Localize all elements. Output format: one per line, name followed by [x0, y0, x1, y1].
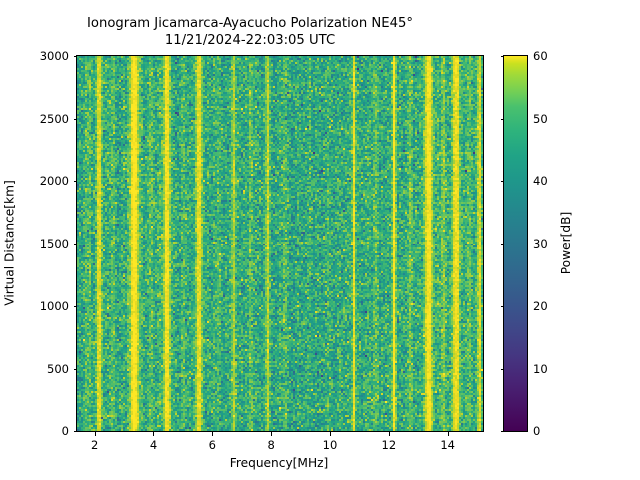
y-tick-label: 3000 [40, 49, 69, 63]
x-tick-mark [95, 432, 96, 436]
x-tick-label: 14 [440, 438, 455, 452]
figure-title: Ionogram Jicamarca-Ayacucho Polarization… [0, 16, 500, 49]
colorbar-tick-mark [501, 306, 505, 307]
y-tick-mark [74, 431, 78, 432]
x-tick-label: 12 [382, 438, 397, 452]
y-axis-label: Virtual Distance[km] [0, 55, 20, 430]
x-tick-mark [212, 432, 213, 436]
colorbar-gradient [504, 56, 527, 431]
y-tick-label: 1500 [40, 237, 69, 251]
y-tick-mark [74, 244, 78, 245]
y-tick-label: 2000 [40, 174, 69, 188]
y-tick-label: 2500 [40, 112, 69, 126]
x-tick-label: 10 [323, 438, 338, 452]
colorbar-tick-label: 60 [533, 49, 548, 63]
title-line-2: 11/21/2024-22:03:05 UTC [0, 33, 500, 50]
colorbar-label: Power[dB] [556, 55, 576, 430]
y-tick-label: 1000 [40, 299, 69, 313]
colorbar: 0102030405060 [503, 55, 528, 432]
x-tick-label: 6 [209, 438, 216, 452]
colorbar-tick-mark [501, 431, 505, 432]
x-tick-label: 8 [268, 438, 275, 452]
y-tick-mark [74, 56, 78, 57]
colorbar-tick-label: 10 [533, 362, 548, 376]
colorbar-tick-mark [501, 119, 505, 120]
x-tick-label: 4 [150, 438, 157, 452]
colorbar-tick-label: 50 [533, 112, 548, 126]
x-tick-mark [153, 432, 154, 436]
y-tick-label: 500 [47, 362, 69, 376]
x-tick-mark [448, 432, 449, 436]
ionogram-figure: Ionogram Jicamarca-Ayacucho Polarization… [0, 0, 640, 480]
y-tick-mark [74, 181, 78, 182]
colorbar-tick-mark [501, 369, 505, 370]
colorbar-tick-label: 40 [533, 174, 548, 188]
x-tick-label: 2 [91, 438, 98, 452]
y-tick-mark [74, 306, 78, 307]
colorbar-tick-mark [501, 181, 505, 182]
colorbar-tick-label: 30 [533, 237, 548, 251]
y-tick-mark [74, 119, 78, 120]
x-tick-mark [330, 432, 331, 436]
x-tick-mark [389, 432, 390, 436]
plot-area: 2468101214 050010001500200025003000 [76, 55, 484, 432]
colorbar-tick-label: 20 [533, 299, 548, 313]
y-tick-label: 0 [62, 424, 69, 438]
colorbar-tick-mark [501, 56, 505, 57]
colorbar-tick-mark [501, 244, 505, 245]
y-tick-mark [74, 369, 78, 370]
ionogram-heatmap [77, 56, 483, 431]
x-tick-mark [271, 432, 272, 436]
title-line-1: Ionogram Jicamarca-Ayacucho Polarization… [87, 16, 413, 31]
x-axis-label: Frequency[MHz] [76, 456, 482, 470]
colorbar-tick-label: 0 [533, 424, 540, 438]
